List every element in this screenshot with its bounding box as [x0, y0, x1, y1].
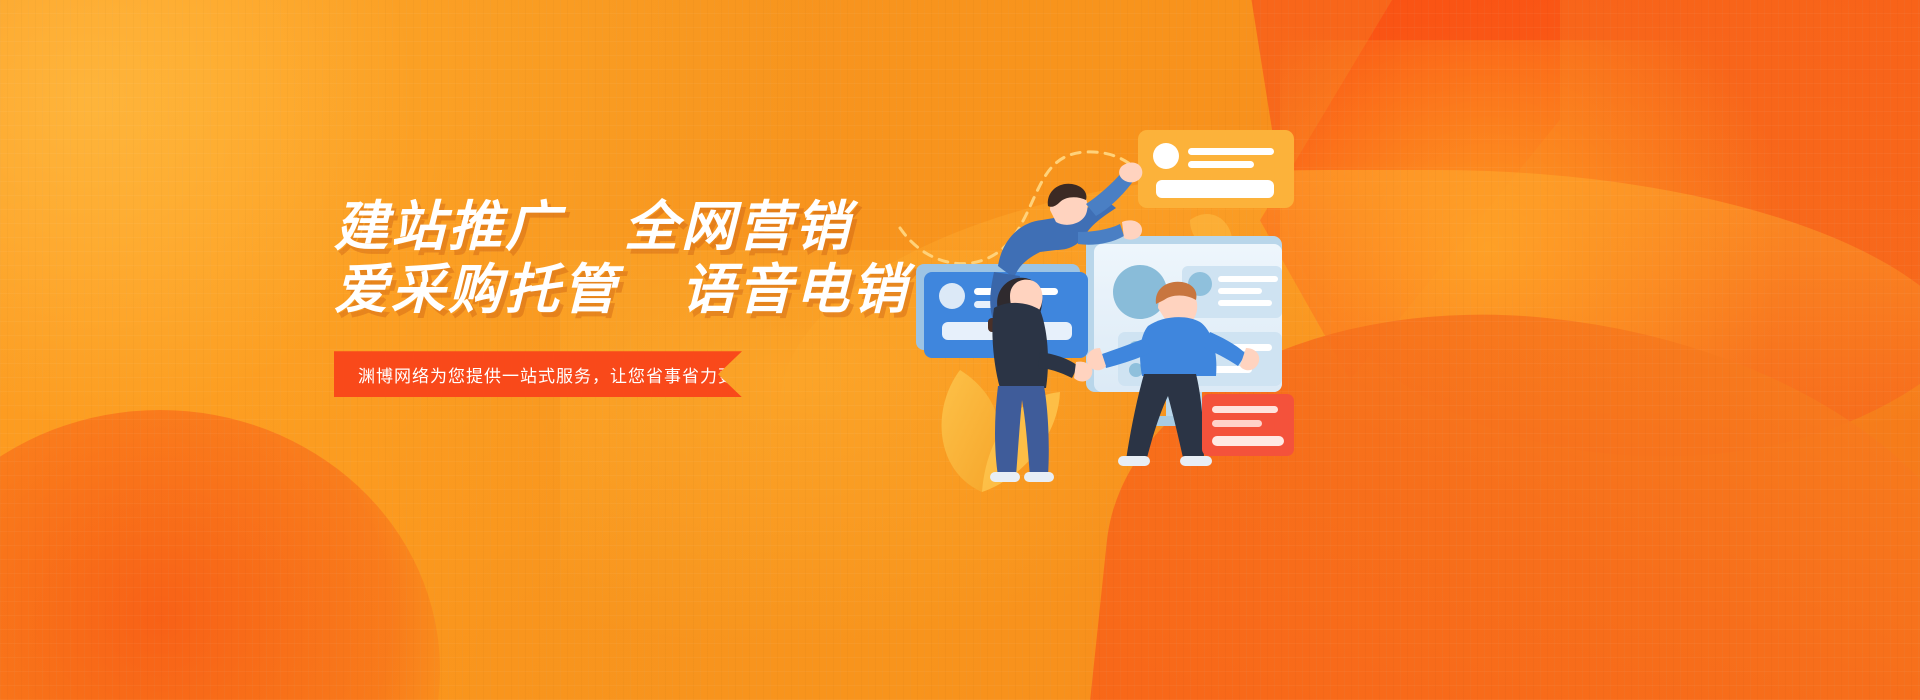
promo-banner: 建站推广 全网营销 爱采购托管 语音电销 渊博网络为您提供一站式服务，让您省事省…: [0, 0, 1920, 700]
hero-illustration: [890, 100, 1310, 520]
yellow-notification-card: [1138, 130, 1294, 208]
headline-line-2-part-b: 语音电销: [681, 260, 909, 320]
red-card: [1202, 394, 1294, 456]
ribbon-label: 渊博网络为您提供一站式服务，让您省事省力更省心: [334, 362, 772, 387]
ribbon-shape: 渊博网络为您提供一站式服务，让您省事省力更省心: [334, 351, 742, 397]
headline-line-2-part-a: 爱采购托管: [334, 260, 619, 320]
tagline-ribbon: 渊博网络为您提供一站式服务，让您省事省力更省心: [334, 351, 742, 397]
headline-line-1-part-a: 建站推广: [334, 197, 562, 257]
headline-line-1-part-b: 全网营销: [624, 197, 852, 257]
